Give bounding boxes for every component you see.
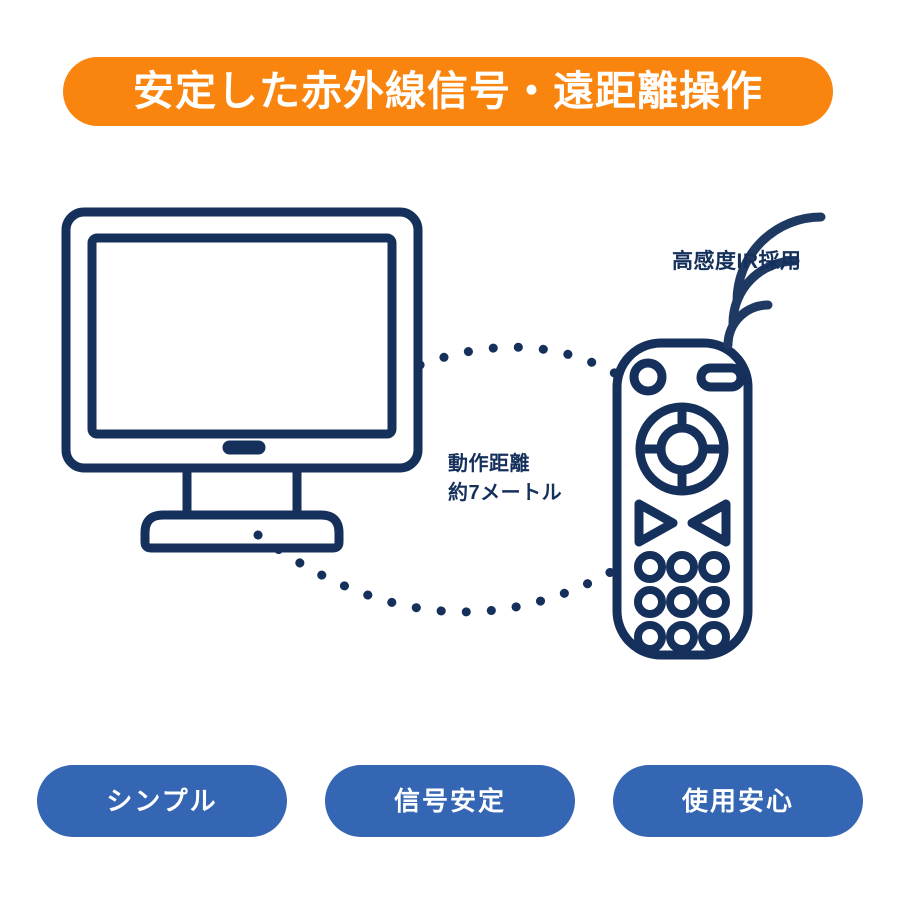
feature-pill-row: シンプル 信号安定 使用安心	[0, 765, 900, 837]
numeric-keypad	[638, 555, 726, 649]
function-button	[701, 368, 741, 387]
feature-pill-safe-use-label: 使用安心	[682, 788, 794, 814]
feature-pill-stable-signal[interactable]: 信号安定	[325, 765, 575, 837]
feature-pill-simple-label: シンプル	[106, 788, 217, 814]
title-banner: 安定した赤外線信号・遠距離操作	[63, 57, 833, 126]
title-text: 安定した赤外線信号・遠距離操作	[133, 71, 763, 112]
remote-control-icon	[617, 343, 748, 655]
television-icon	[66, 212, 418, 548]
operating-distance-label: 動作距離 約7メートル	[448, 450, 562, 508]
feature-pill-simple[interactable]: シンプル	[37, 765, 287, 837]
signal-waves-icon	[728, 217, 821, 345]
infographic-canvas: 安定した赤外線信号・遠距離操作	[0, 0, 900, 900]
illustration-graphic	[0, 150, 900, 730]
play-back-button	[692, 504, 726, 542]
power-button	[634, 363, 662, 391]
feature-pill-stable-signal-label: 信号安定	[394, 788, 506, 814]
dotted-path-upper	[420, 347, 618, 375]
feature-pill-safe-use[interactable]: 使用安心	[613, 765, 863, 837]
ir-sensor-label: 高感度IR採用	[672, 245, 802, 275]
play-forward-button	[639, 504, 673, 542]
operating-distance-line1: 動作距離	[448, 453, 530, 475]
operating-distance-line2: 約7メートル	[448, 479, 562, 508]
dpad-center-button	[661, 428, 703, 470]
